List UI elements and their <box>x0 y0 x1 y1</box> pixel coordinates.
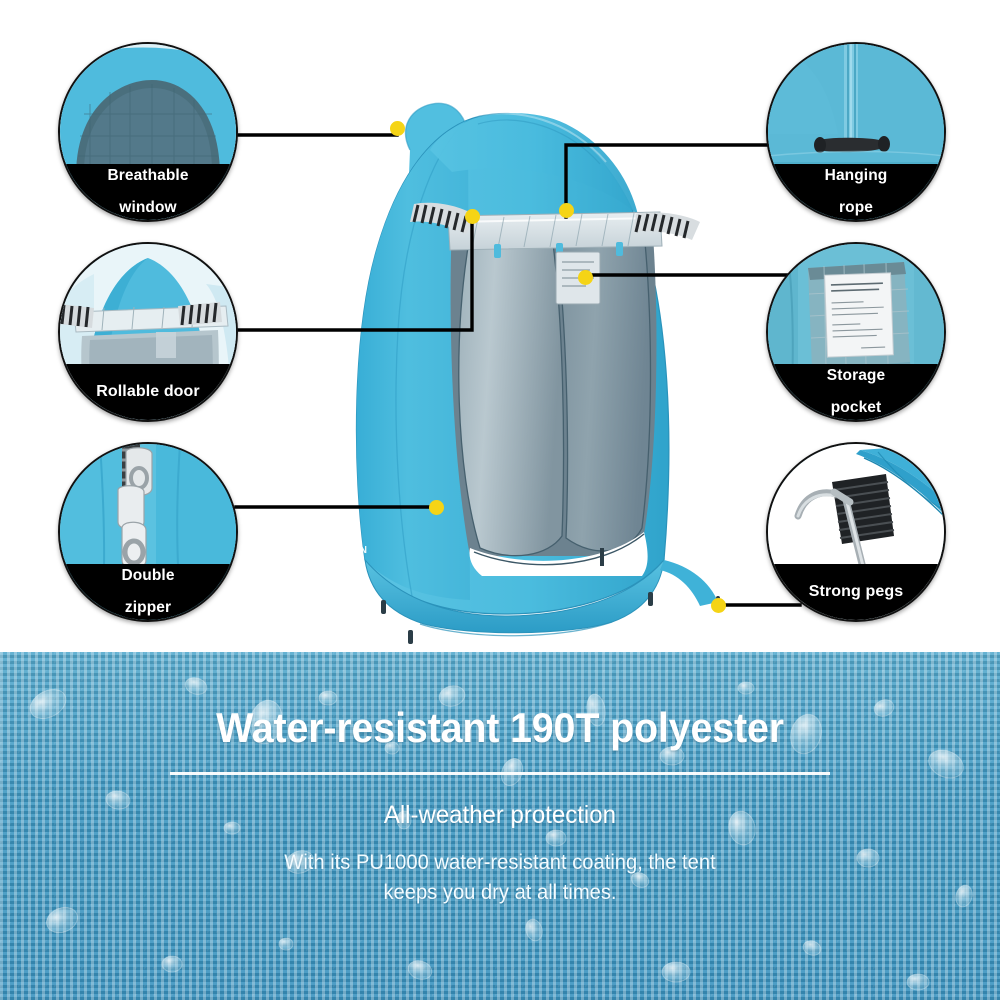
banner-body-line2: keeps you dry at all times. <box>193 878 807 908</box>
banner-subtitle: All-weather protection <box>384 801 616 830</box>
banner-divider <box>170 772 830 775</box>
anchor-dot-rollable-door <box>465 209 480 224</box>
callout-label-line1: Double <box>121 568 174 584</box>
callout-hanging-rope[interactable]: Hangingrope <box>766 42 946 222</box>
anchor-dot-storage-pocket <box>578 270 593 285</box>
anchor-dot-breathable-window <box>390 121 405 136</box>
infographic-root: WEISSHORN <box>0 0 1000 1000</box>
callout-label-band: Storagepocket <box>766 364 946 420</box>
callout-label-band: Rollable door <box>58 364 238 420</box>
callout-label-line1: Storage <box>827 368 885 384</box>
callout-label-band: Doublezipper <box>58 564 238 620</box>
callout-label-band: Breathablewindow <box>58 164 238 220</box>
anchor-dot-strong-pegs <box>711 598 726 613</box>
anchor-dot-hanging-rope <box>559 203 574 218</box>
callout-label-line1: Rollable door <box>96 384 200 400</box>
banner-body-line1: With its PU1000 water-resistant coating,… <box>193 848 807 878</box>
callout-label-line2: pocket <box>827 400 885 416</box>
callout-label-line1: Strong pegs <box>809 584 903 600</box>
connector-rollable-door <box>236 224 472 330</box>
callout-breathable-window[interactable]: Breathablewindow <box>58 42 238 222</box>
callout-label-line2: rope <box>825 200 888 216</box>
callout-strong-pegs[interactable]: Strong pegs <box>766 442 946 622</box>
callout-label-line1: Hanging <box>825 168 888 184</box>
water-resistance-banner: Water-resistant 190T polyester All-weath… <box>0 652 1000 1000</box>
banner-body: With its PU1000 water-resistant coating,… <box>193 848 807 909</box>
callout-rollable-door[interactable]: Rollable door <box>58 242 238 422</box>
banner-text-block: Water-resistant 190T polyester All-weath… <box>0 652 1000 1000</box>
callout-label-band: Strong pegs <box>766 564 946 620</box>
callout-storage-pocket[interactable]: Storagepocket <box>766 242 946 422</box>
connector-hanging-rope <box>566 145 800 217</box>
callout-label-line2: zipper <box>121 600 174 616</box>
banner-title: Water-resistant 190T polyester <box>216 704 784 752</box>
anchor-dot-double-zipper <box>429 500 444 515</box>
callout-label-line2: window <box>107 200 188 216</box>
feature-callout-panel: WEISSHORN <box>0 0 1000 652</box>
callout-label-band: Hangingrope <box>766 164 946 220</box>
callout-double-zipper[interactable]: Doublezipper <box>58 442 238 622</box>
callout-label-line1: Breathable <box>107 168 188 184</box>
